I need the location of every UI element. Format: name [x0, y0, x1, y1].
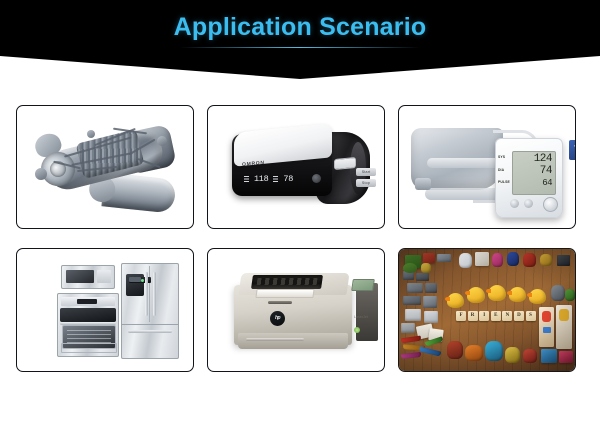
- scenario-card-omron-monitor[interactable]: OMRON 118 78 Start Stop: [207, 105, 385, 229]
- fridge-upper-doors: [122, 264, 178, 325]
- omron-stop-button: Stop: [356, 179, 376, 187]
- toy-item: [401, 352, 421, 359]
- scenario-card-jet-engine[interactable]: [16, 105, 194, 229]
- bp-cuff-clip: [415, 178, 431, 190]
- toy-item: [403, 263, 417, 273]
- omron-start-button: Start: [356, 168, 376, 176]
- bp-set-button: [524, 199, 533, 208]
- toy-item: [419, 346, 442, 356]
- omron-badge-icon: [334, 157, 356, 170]
- toys-flatlay-image: F R I E N D S: [399, 249, 575, 371]
- engine-accessory-boss: [87, 130, 95, 138]
- printer-status-led-icon: [354, 327, 360, 333]
- microwave-oven: [61, 265, 115, 289]
- toy-item: [492, 253, 503, 267]
- omron-power-button: [312, 174, 321, 183]
- printer-control-display: [351, 279, 375, 291]
- hp-logo-icon: hp: [270, 311, 285, 326]
- toy-item: [459, 253, 472, 268]
- bp-sd-card-badge: SD: [569, 140, 576, 160]
- oven-storage-drawer: [61, 343, 117, 353]
- toy-item: [447, 341, 463, 359]
- application-scenario-grid: OMRON 118 78 Start Stop: [16, 105, 586, 372]
- omron-systolic-value: 118: [254, 174, 268, 184]
- bp-pulse-value: 64: [542, 178, 552, 188]
- printer-paper-tray-base: [238, 333, 348, 349]
- bp-diastolic-value: 74: [540, 165, 552, 177]
- toy-item: [475, 252, 489, 266]
- toy-item: [401, 323, 415, 333]
- range-control-panel: [61, 297, 115, 306]
- toy-item: [447, 293, 464, 308]
- fridge-door-split: [149, 266, 150, 322]
- omron-display-bars-icon: [273, 176, 278, 183]
- printer-front-cover-slot: [268, 301, 292, 304]
- scenario-card-bp-monitor[interactable]: 124 74 64 SYS DIA PULSE SD: [398, 105, 576, 229]
- freezer-drawer-handle: [128, 330, 172, 333]
- refrigerator: [121, 263, 179, 359]
- bp-pulse-label: PULSE: [498, 180, 510, 184]
- toy-item: [407, 283, 423, 293]
- omron-display-bars-icon: [244, 176, 249, 183]
- omron-display: 118 78: [244, 172, 306, 186]
- printer-image: hp LaserJet: [208, 249, 385, 371]
- bp-systolic-value: 124: [534, 153, 552, 165]
- bp-dia-label: DIA: [498, 168, 504, 172]
- letter-tile: D: [514, 311, 524, 321]
- toy-item: [523, 349, 537, 363]
- engine-accessory-boss: [35, 168, 47, 180]
- page-title: Application Scenario: [0, 13, 600, 42]
- letter-tile: N: [502, 311, 512, 321]
- microwave-door: [66, 270, 94, 283]
- scenario-card-kitchen-appliances[interactable]: [16, 248, 194, 372]
- toy-item: [485, 341, 503, 361]
- toy-item: [540, 254, 552, 266]
- bp-lcd-display: 124 74 64: [512, 151, 556, 195]
- letter-tile: R: [468, 311, 478, 321]
- omron-diastolic-value: 78: [283, 174, 293, 184]
- toy-item: [543, 327, 551, 333]
- range-oven: [57, 293, 119, 357]
- toy-item: [424, 311, 438, 323]
- toy-item: [541, 349, 557, 363]
- omron-monitor-image: OMRON 118 78 Start Stop: [208, 106, 385, 228]
- letter-tile: F: [456, 311, 466, 321]
- letter-tile: E: [491, 311, 501, 321]
- range-cooktop: [60, 308, 116, 322]
- bp-monitor-image: 124 74 64 SYS DIA PULSE SD: [399, 106, 576, 228]
- letter-tile: I: [479, 311, 489, 321]
- toy-item: [551, 285, 565, 301]
- printer-model-label: LaserJet: [354, 315, 368, 319]
- jet-engine-image: [17, 106, 194, 228]
- toy-item: [565, 289, 575, 301]
- toy-item: [523, 253, 536, 267]
- kitchen-appliances-image: [17, 249, 194, 371]
- fridge-door-handle: [153, 272, 156, 316]
- printer-side-panel: [356, 283, 378, 341]
- toy-item: [509, 287, 526, 302]
- scenario-card-printer[interactable]: hp LaserJet: [207, 248, 385, 372]
- toy-item: [557, 255, 570, 266]
- toy-item: [401, 336, 422, 344]
- scenario-card-toys[interactable]: F R I E N D S: [398, 248, 576, 372]
- toy-item: [416, 273, 429, 281]
- letter-tile: S: [526, 311, 536, 321]
- dispenser-control-panel: [129, 277, 151, 283]
- printer-output-tray: [251, 275, 323, 289]
- toy-item: [437, 254, 451, 262]
- toy-item: [488, 285, 506, 301]
- toy-item: [542, 311, 551, 322]
- printer-paper-stack: [255, 289, 314, 298]
- toy-item: [507, 252, 519, 266]
- toy-item: [505, 347, 520, 363]
- bp-start-button: [543, 197, 558, 212]
- fridge-door-handle: [145, 272, 148, 316]
- fridge-freezer-drawer: [122, 326, 178, 358]
- title-underline: [180, 47, 420, 48]
- toy-item: [425, 283, 437, 293]
- toy-item: [423, 253, 435, 263]
- water-ice-dispenser: [126, 274, 144, 296]
- toy-item: [559, 309, 569, 321]
- toy-item: [403, 296, 421, 305]
- header-banner-inner: Application Scenario: [0, 0, 600, 80]
- toy-item: [405, 309, 421, 321]
- header-banner: Application Scenario: [0, 0, 600, 80]
- toy-item: [529, 289, 546, 304]
- toy-item: [559, 351, 573, 363]
- letter-tiles-row: F R I E N D S: [456, 311, 536, 321]
- toy-item: [423, 296, 437, 308]
- bp-main-unit: 124 74 64 SYS DIA PULSE: [495, 138, 563, 218]
- engine-accessory-boss: [157, 136, 167, 146]
- toy-item: [421, 263, 431, 273]
- toy-item: [465, 345, 483, 361]
- bp-memory-button: [510, 199, 519, 208]
- toy-item: [467, 287, 485, 303]
- omron-button-group: Start Stop: [356, 168, 376, 190]
- bp-sys-label: SYS: [498, 155, 505, 159]
- microwave-control-panel: [97, 270, 111, 283]
